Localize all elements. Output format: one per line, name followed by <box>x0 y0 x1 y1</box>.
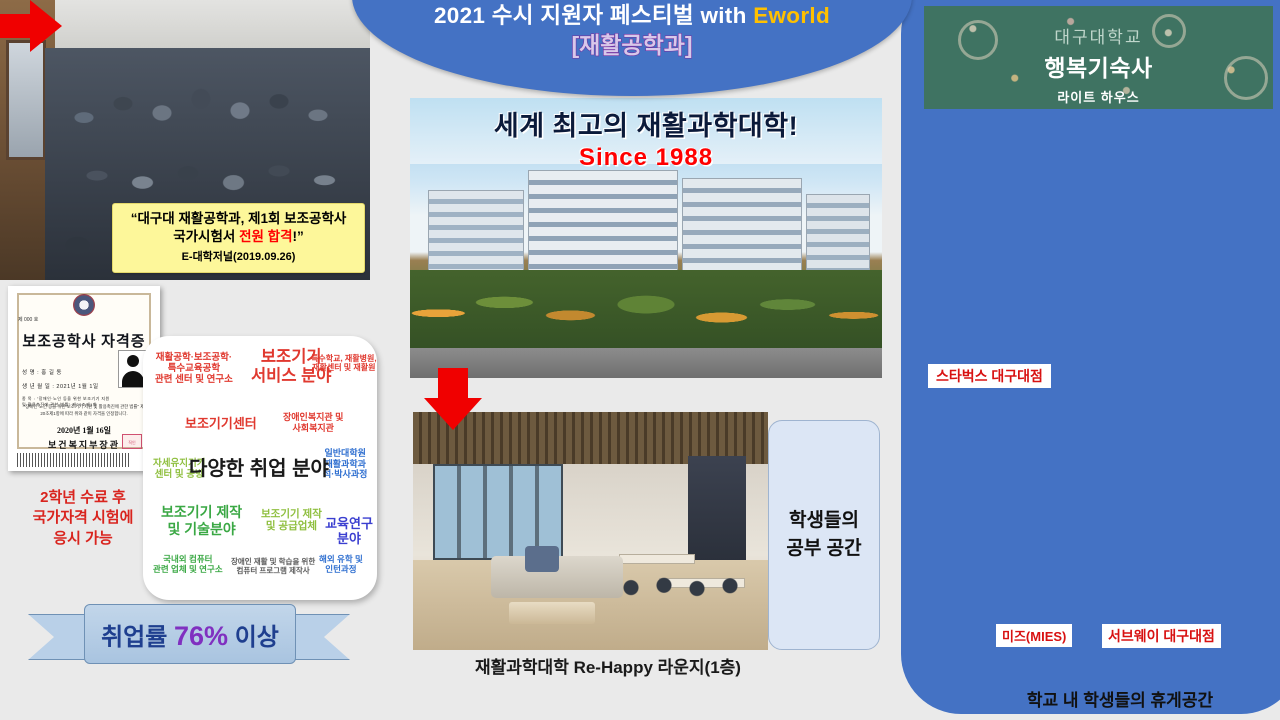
wordcloud-center-term: 다양한 취업 분야 <box>189 458 329 482</box>
quote-source: E-대학저널(2019.09.26) <box>113 248 364 264</box>
certificate-doc-number: 제 000 호 <box>18 316 38 323</box>
lounge-table <box>509 602 595 624</box>
certificate-seal-icon: 직인 <box>122 434 142 449</box>
employment-rate-ribbon: 취업률 76% 이상 <box>28 604 350 668</box>
employment-rate-text: 취업률 76% 이상 <box>101 617 279 652</box>
career-word-cloud: 재활공학·보조공학· 특수교육공학 관련 센터 및 연구소보조기기 서비스 분야… <box>143 336 377 600</box>
arrow-down-icon <box>424 368 482 430</box>
title-line-1: 2021 수시 지원자 페스티벌 with Eworld <box>352 4 912 29</box>
news-quote-callout: “대구대 재활공학과, 제1회 보조공학사 국가시험서 전원 합격!” E-대학… <box>112 203 365 273</box>
lounge-chairs <box>613 560 763 606</box>
employment-rate-value: 76% <box>174 621 228 651</box>
certificate-caption: 2학년 수료 후 국가자격 시험에 응시 가능 <box>2 488 164 549</box>
certificate-field-name-value: 홍 길 동 <box>41 370 62 376</box>
wordcloud-term: 보조기기 제작 및 기술분야 <box>161 504 242 537</box>
wordcloud-term: 일반대학원 재활과학과 석·박사과정 <box>323 448 367 480</box>
subway-label: 서브웨이 대구대점 <box>1102 624 1221 648</box>
wordcloud-term: 교육연구 분야 <box>321 516 377 547</box>
slide-canvas: 2021 수시 지원자 페스티벌 with Eworld [재활공학과] “대구… <box>0 0 1280 720</box>
certificate-field-name: 성 명 : 홍 길 동 <box>22 368 62 376</box>
title-line-1-highlight: Eworld <box>753 3 830 28</box>
photo-ceiling <box>55 0 370 52</box>
quote-line-2-highlight: 전원 합격 <box>239 229 292 244</box>
government-emblem-icon <box>73 294 95 316</box>
certificate-barcode-icon <box>17 453 130 467</box>
wordcloud-term: 보조기기센터 <box>185 416 257 431</box>
quote-line-1: “대구대 재활공학과, 제1회 보조공학사 <box>113 210 364 228</box>
lounge-photo <box>413 412 768 650</box>
campus-sky <box>410 98 882 164</box>
dorm-banner: 대구대학교 행복기숙사 라이트 하우스 <box>924 6 1273 109</box>
title-banner: 2021 수시 지원자 페스티벌 with Eworld [재활공학과] <box>352 0 912 96</box>
mies-label: 미즈(MIES) <box>996 624 1072 647</box>
quote-line-2-suffix: !” <box>293 229 304 244</box>
certificate-title: 보조공학사 자격증 <box>8 330 160 351</box>
campus-photo <box>410 98 882 378</box>
title-line-2: [재활공학과] <box>352 33 912 58</box>
quote-line-2: 국가시험서 전원 합격!” <box>113 228 364 246</box>
certificate-field-birth: 생 년 월 일 : 2021년 1월 1일 <box>22 382 99 390</box>
certificate-field-name-label: 성 명 : <box>22 370 39 376</box>
study-space-text: 학생들의 공부 공간 <box>786 507 861 562</box>
certificate-field-birth-value: 2021년 1월 1일 <box>56 384 98 390</box>
wordcloud-term: 특수학교, 재활병원, 재활센터 및 재활원 <box>311 354 377 373</box>
employment-rate-suffix: 이상 <box>228 624 279 651</box>
certificate-field-birth-label: 생 년 월 일 : <box>22 384 54 390</box>
starbucks-label: 스타벅스 대구대점 <box>928 364 1051 388</box>
employment-rate-prefix: 취업률 <box>101 624 174 651</box>
dorm-banner-line-1: 대구대학교 <box>924 23 1273 48</box>
wordcloud-term: 보조기기 제작 및 공급업체 <box>261 508 322 533</box>
certificate-body-text: "장애인·노인 등을 위한 보조기기 지원 및 활용촉진에 관한 법률" 제20… <box>22 404 146 417</box>
rest-area-caption: 학교 내 학생들의 휴게공간 <box>960 686 1280 711</box>
dorm-banner-line-2: 행복기숙사 <box>924 49 1273 83</box>
wordcloud-term: 재활공학·보조공학· 특수교육공학 관련 센터 및 연구소 <box>155 352 233 386</box>
arrow-shaft <box>438 368 468 402</box>
certificate-field-note-label: 종 목 : <box>22 396 35 401</box>
arrow-head <box>424 398 482 430</box>
arrow-shaft <box>0 14 34 38</box>
wordcloud-term: 장애인복지관 및 사회복지관 <box>283 412 343 433</box>
dorm-banner-text-group: 대구대학교 행복기숙사 라이트 하우스 <box>924 6 1273 109</box>
wordcloud-term: 장애인 재활 및 학습을 위한 컴퓨터 프로그램 제작사 <box>231 558 315 576</box>
lounge-caption: 재활과학대학 Re-Happy 라운지(1층) <box>398 653 818 678</box>
quote-line-2-prefix: 국가시험서 <box>173 229 239 244</box>
arrow-head <box>30 0 62 52</box>
lounge-cushion <box>525 546 559 572</box>
wordcloud-term: 국내외 컴퓨터 관련 업체 및 연구소 <box>153 554 223 574</box>
title-line-1-prefix: 2021 수시 지원자 페스티벌 with <box>434 3 753 28</box>
ribbon-band: 취업률 76% 이상 <box>84 604 296 664</box>
dorm-banner-line-3: 라이트 하우스 <box>924 87 1273 106</box>
study-space-callout: 학생들의 공부 공간 <box>768 420 880 650</box>
photo-window <box>6 40 46 160</box>
wordcloud-term: 해외 유학 및 인턴과정 <box>319 554 363 574</box>
certificate-image: 제 000 호 보조공학사 자격증 성 명 : 홍 길 동 생 년 월 일 : … <box>8 286 160 471</box>
